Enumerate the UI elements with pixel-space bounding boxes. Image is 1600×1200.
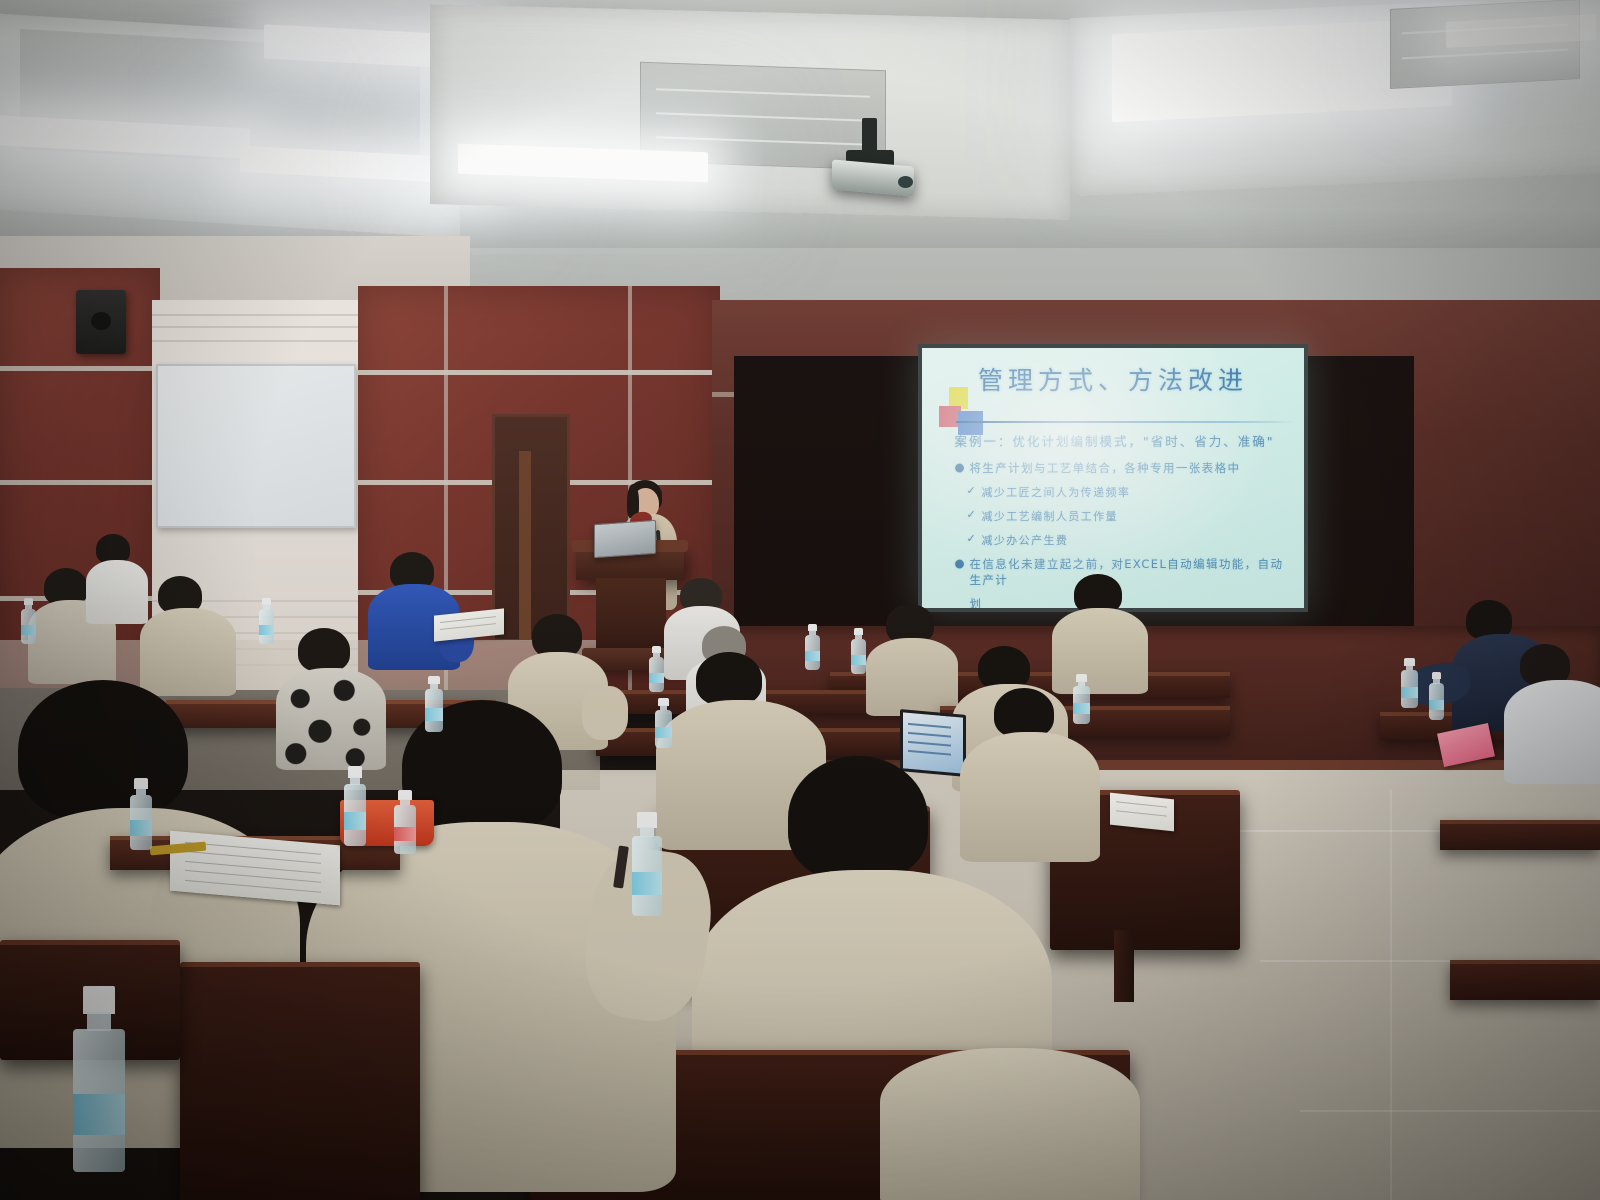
- desk-right-aisle-2: [1440, 820, 1600, 850]
- laptop-screen: [900, 709, 966, 777]
- head-hair: [788, 756, 928, 880]
- speaker-cone: [91, 312, 111, 330]
- torso: [960, 732, 1100, 862]
- slide-subtitle-line: 案例一：优化计划编制模式，"省时、省力、准确": [954, 431, 1292, 450]
- slide-bullet: 划: [954, 596, 1292, 608]
- bullet-text: 在信息化未建立起之前，对EXCEL自动编辑功能，自动生产计: [969, 556, 1292, 588]
- slide-logo-icon: [939, 387, 985, 435]
- head-hair: [696, 652, 762, 706]
- torso: [86, 560, 148, 624]
- bullet-marker: ✓: [966, 532, 981, 545]
- slide-bullet-list: 案例一：优化计划编制模式，"省时、省力、准确" ● 将生产计划与工艺单结合，各种…: [954, 431, 1292, 608]
- slide-bullet: ✓ 减少工匠之间人为传递频率: [954, 484, 1292, 500]
- patterned-blouse-attendee: [276, 668, 386, 770]
- torso: [1052, 608, 1148, 694]
- water-bottle[interactable]: [342, 766, 368, 846]
- water-bottle[interactable]: [258, 598, 275, 644]
- torso: [880, 1048, 1140, 1200]
- projection-screen: 管理方式、方法改进 案例一：优化计划编制模式，"省时、省力、准确" ● 将生产计…: [922, 348, 1304, 608]
- wall-seam-right-1: [358, 370, 720, 375]
- water-bottle[interactable]: [850, 628, 867, 674]
- torso: [866, 638, 958, 716]
- head-hair: [994, 688, 1054, 738]
- slide-bullet: ● 在信息化未建立起之前，对EXCEL自动编辑功能，自动生产计: [954, 556, 1292, 588]
- bullet-text: 减少办公产生费: [981, 532, 1068, 548]
- bench-leg: [1114, 930, 1134, 1002]
- slide-bullet: ✓ 减少工艺编制人员工作量: [954, 508, 1292, 524]
- head-hair: [298, 628, 350, 672]
- handout-paper[interactable]: [1110, 793, 1174, 832]
- water-bottle[interactable]: [1428, 672, 1445, 720]
- slide-bullet: ● 将生产计划与工艺单结合，各种专用一张表格中: [954, 460, 1292, 476]
- slide-bullet: ✓ 减少办公产生费: [954, 532, 1292, 548]
- water-bottle[interactable]: [654, 698, 673, 748]
- desk-right-aisle-3: [1450, 960, 1600, 1000]
- whiteboard: [156, 364, 356, 528]
- door-jamb: [519, 451, 531, 641]
- bench-row-front-left: [180, 962, 420, 1200]
- bullet-text: 减少工艺编制人员工作量: [981, 508, 1117, 524]
- presenter-laptop[interactable]: [594, 520, 656, 558]
- bullet-text: 划: [969, 596, 982, 608]
- projector-lens: [898, 176, 913, 188]
- conference-room-photo: 管理方式、方法改进 案例一：优化计划编制模式，"省时、省力、准确" ● 将生产计…: [0, 0, 1600, 1200]
- water-bottle[interactable]: [1400, 658, 1419, 708]
- floor-tile-line-v: [1390, 790, 1392, 1200]
- bullet-marker: ●: [954, 460, 969, 474]
- water-bottle[interactable]: [70, 986, 128, 1172]
- water-bottle[interactable]: [804, 624, 821, 670]
- head-hair: [18, 680, 188, 820]
- torso: [1504, 680, 1600, 784]
- water-bottle[interactable]: [424, 676, 444, 732]
- attendee-laptop[interactable]: [900, 709, 966, 777]
- water-bottle[interactable]: [630, 812, 664, 916]
- bullet-text: 减少工匠之间人为传递频率: [981, 484, 1130, 500]
- wall-speaker: [76, 290, 126, 354]
- wall-seam-left-1: [0, 366, 160, 371]
- water-bottle[interactable]: [128, 778, 154, 850]
- water-bottle[interactable]: [20, 598, 37, 644]
- bullet-marker: ✓: [966, 484, 981, 497]
- projection-screen-frame: 管理方式、方法改进 案例一：优化计划编制模式，"省时、省力、准确" ● 将生产计…: [918, 344, 1308, 612]
- slide-divider-rule: [956, 421, 1296, 423]
- water-bottle[interactable]: [1072, 674, 1091, 724]
- floor-tile-line-3: [1300, 1110, 1600, 1112]
- water-bottle[interactable]: [392, 790, 418, 854]
- torso: [140, 608, 236, 696]
- bullet-marker: ✓: [966, 508, 981, 521]
- wall-seam-left-2: [0, 480, 160, 485]
- bullet-text: 将生产计划与工艺单结合，各种专用一张表格中: [969, 460, 1240, 476]
- bullet-marker: ●: [954, 556, 969, 570]
- water-bottle[interactable]: [648, 646, 665, 692]
- arm: [582, 686, 628, 740]
